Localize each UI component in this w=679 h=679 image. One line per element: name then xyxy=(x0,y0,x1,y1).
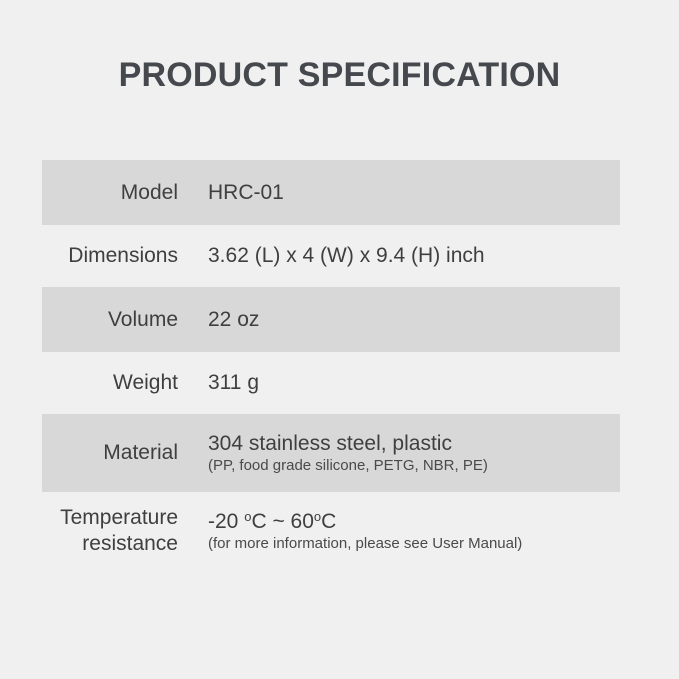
spec-value-dimensions: 3.62 (L) x 4 (W) x 9.4 (H) inch xyxy=(208,243,620,268)
table-row: Temperature resistance -20 oC ~ 60oC (fo… xyxy=(42,492,620,570)
spec-value-model: HRC-01 xyxy=(208,180,620,205)
spec-label-material: Material xyxy=(42,440,208,466)
spec-value-material: 304 stainless steel, plastic (PP, food g… xyxy=(208,431,620,475)
spec-value-temperature-text: -20 oC ~ 60oC xyxy=(208,509,620,534)
table-row: Weight 311 g xyxy=(42,352,620,414)
spec-value-temperature-note: (for more information, please see User M… xyxy=(208,535,620,553)
spec-label-weight: Weight xyxy=(42,370,208,396)
spec-value-material-note: (PP, food grade silicone, PETG, NBR, PE) xyxy=(208,457,620,475)
spec-value-model-text: HRC-01 xyxy=(208,180,620,205)
product-specification-page: PRODUCT SPECIFICATION Model HRC-01 Dimen… xyxy=(0,0,679,679)
table-row: Material 304 stainless steel, plastic (P… xyxy=(42,414,620,492)
page-title: PRODUCT SPECIFICATION xyxy=(0,56,679,95)
table-row: Dimensions 3.62 (L) x 4 (W) x 9.4 (H) in… xyxy=(42,225,620,287)
spec-value-volume-text: 22 oz xyxy=(208,307,620,332)
specification-table: Model HRC-01 Dimensions 3.62 (L) x 4 (W)… xyxy=(42,160,620,570)
table-row: Volume 22 oz xyxy=(42,287,620,352)
spec-value-weight: 311 g xyxy=(208,370,620,395)
spec-label-volume: Volume xyxy=(42,307,208,333)
spec-value-weight-text: 311 g xyxy=(208,370,620,395)
spec-value-dimensions-text: 3.62 (L) x 4 (W) x 9.4 (H) inch xyxy=(208,243,620,268)
spec-label-dimensions: Dimensions xyxy=(42,243,208,269)
spec-value-volume: 22 oz xyxy=(208,307,620,332)
table-row: Model HRC-01 xyxy=(42,160,620,225)
temperature-range-prefix: -20 xyxy=(208,510,244,533)
spec-value-material-text: 304 stainless steel, plastic xyxy=(208,431,620,456)
spec-value-temperature-resistance: -20 oC ~ 60oC (for more information, ple… xyxy=(208,509,620,553)
spec-label-model: Model xyxy=(42,180,208,206)
temperature-range-suffix: C xyxy=(321,510,336,533)
spec-label-temperature-resistance: Temperature resistance xyxy=(42,505,208,556)
spec-label-temperature-line2: resistance xyxy=(82,532,178,555)
spec-label-temperature-line1: Temperature xyxy=(60,506,178,529)
temperature-range-mid: C ~ 60 xyxy=(251,510,313,533)
